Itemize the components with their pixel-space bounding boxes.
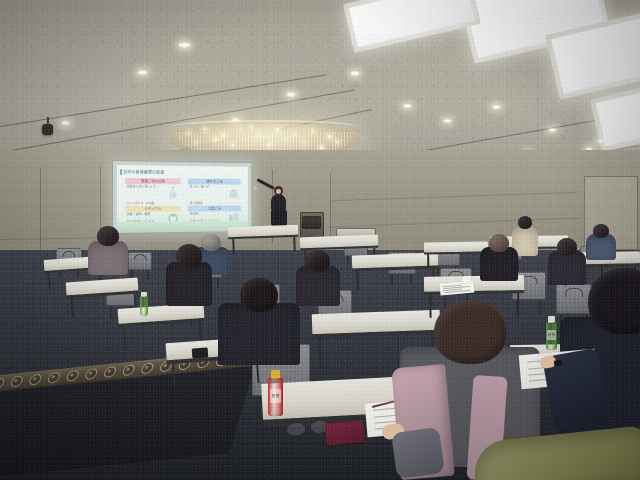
attendee-head: [97, 226, 119, 246]
attendee-torso: [480, 247, 518, 281]
bottle-body: [140, 296, 148, 316]
slide-quadrant-1: 資源ごみの分別 収集日に出しましょう: [125, 178, 181, 200]
attendee-torso: [296, 266, 340, 306]
chair-leg: [147, 270, 149, 279]
recessed-downlight: [492, 105, 501, 109]
attendee-head: [306, 250, 330, 272]
notebook-maroon[interactable]: [325, 420, 365, 445]
chandelier-sparkle: [328, 135, 331, 138]
table-leg: [427, 255, 429, 270]
chair-leg: [259, 396, 261, 423]
seminar-table[interactable]: [424, 241, 488, 252]
attendee-ponytail: [166, 244, 212, 312]
attendee-torso: [218, 303, 300, 365]
attendee-head: [240, 278, 278, 312]
attendee-torso: [586, 234, 616, 260]
bottle-illustration-icon: [166, 186, 179, 199]
attendee-head: [489, 234, 509, 252]
recessed-downlight: [597, 139, 605, 143]
seminar-room-photo: 当市の資源循環の取組 資源ごみの分別 収集日に出しましょう ペットボトル・かん瓶…: [0, 0, 640, 480]
seminar-table[interactable]: [300, 235, 378, 249]
presentation-slide: 当市の資源循環の取組 資源ごみの分別 収集日に出しましょう ペットボトル・かん瓶…: [117, 165, 248, 229]
chandelier-sparkle: [222, 134, 225, 137]
attendee-suit-center: [218, 278, 300, 374]
projection-screen: 当市の資源循環の取組 資源ごみの分別 収集日に出しましょう ペットボトル・かん瓶…: [112, 160, 252, 234]
seminar-table[interactable]: [228, 225, 298, 237]
slide-quadrant-body: 古紙・古布・金属: [127, 213, 150, 217]
recessed-downlight: [286, 92, 296, 97]
slide-quadrant-2: 燃やすごみ 生ごみ・紙くず: [188, 179, 241, 200]
chandelier-sparkle: [268, 143, 271, 146]
water-bottle-green-right[interactable]: お茶: [546, 316, 557, 350]
chair-leg: [347, 256, 349, 265]
recessed-downlight: [137, 70, 148, 75]
attendee-head: [593, 224, 609, 238]
slide-title: 当市の資源循環の取組: [123, 168, 165, 176]
ceiling-speaker: [42, 124, 53, 135]
attendee-right-mid: [480, 234, 518, 286]
smartphone[interactable]: [192, 347, 209, 358]
cup-white[interactable]: [462, 276, 472, 284]
speaker-mount: [47, 117, 49, 125]
bag-illustration-icon: [227, 187, 240, 199]
attendee-left-light-top: [88, 226, 128, 280]
stacking-chair[interactable]: [128, 252, 152, 270]
presenter-hand: [253, 186, 257, 190]
slide-quadrant-body: 収集日に出しましょう: [127, 185, 156, 189]
chandelier-sparkle: [320, 146, 323, 149]
recessed-downlight: [178, 42, 191, 48]
glasses-lens: [285, 421, 306, 436]
recessed-downlight: [548, 128, 557, 132]
slide-quadrant-body: 生ごみ・紙くず: [190, 185, 209, 189]
attendee-dark-coat: [296, 250, 340, 312]
recessed-downlight: [403, 104, 412, 108]
chandelier-sparkle: [214, 138, 217, 141]
wall-panel-seam: [330, 172, 331, 242]
chair-leg: [391, 274, 393, 285]
recessed-downlight: [61, 121, 70, 125]
wall-panel-seam: [40, 168, 41, 260]
slide-quadrant-body: 申込制: [190, 212, 198, 216]
recessed-downlight: [350, 71, 360, 76]
sweater-sleeve: [391, 427, 445, 479]
bottle-label: お茶: [547, 330, 555, 340]
bottle-label: お茶: [270, 389, 281, 403]
recessed-downlight: [443, 119, 452, 123]
presenter-torso: [271, 194, 286, 211]
attendee-head: [588, 268, 640, 334]
attendee-torso: [166, 262, 212, 306]
monitor: [302, 216, 321, 229]
tea-bottle-red-foreground[interactable]: お茶: [268, 370, 283, 416]
seminar-table[interactable]: [352, 253, 438, 269]
attendee-head: [434, 300, 506, 364]
chair-leg: [410, 274, 412, 285]
chair-handle-slot: [134, 254, 147, 260]
chair-leg: [110, 306, 112, 318]
attendee-head: [557, 238, 577, 256]
attendee-head: [176, 244, 202, 268]
chandelier-sparkle: [276, 128, 279, 131]
water-bottle-green-left[interactable]: [140, 292, 148, 316]
attendee-head: [518, 216, 532, 229]
chair-back: [128, 252, 152, 270]
chandelier-rim: [170, 120, 360, 134]
attendee-blue-jacket: [586, 224, 616, 264]
